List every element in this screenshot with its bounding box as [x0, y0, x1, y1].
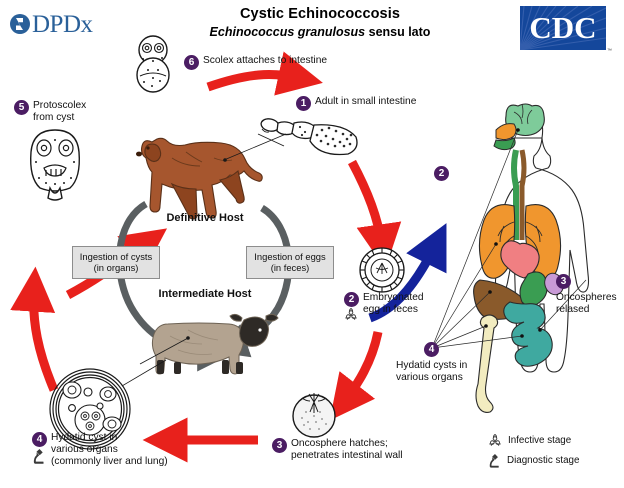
oncosphere-illustration: [288, 388, 340, 440]
page-subtitle: Echinococcus granulosus sensu lato: [190, 24, 450, 40]
step-1-badge: 1: [296, 96, 311, 111]
definitive-host-dog-illustration: [128, 118, 288, 218]
step-5-label-line1: Protoscolex: [33, 100, 86, 111]
ingestion-eggs-line1: Ingestion of eggs: [252, 251, 328, 262]
step-5-callout: 5 Protoscolex from cyst: [14, 100, 134, 124]
step-4-left-label: Hydatid cyst in various organs (commonly…: [51, 432, 168, 467]
step-6-label: Scolex attaches to intestine: [203, 55, 327, 67]
cdc-logo-text: CDC: [520, 6, 606, 50]
step-4-right-callout: 4: [424, 342, 444, 357]
cdc-trademark: ™: [607, 48, 612, 54]
ingestion-cysts-line1: Ingestion of cysts: [78, 251, 154, 262]
ingestion-of-cysts-box: Ingestion of cysts (in organs): [72, 246, 160, 279]
arrow-egg-to-oncosphere: [344, 332, 378, 402]
ingestion-eggs-line2: (in feces): [252, 262, 328, 273]
biohazard-icon: [344, 307, 358, 321]
step-4-left-callout: 4 Hydatid cyst in various organs (common…: [32, 432, 212, 467]
step-3-released-badge: 3: [556, 274, 571, 289]
step-4-left-line2: various organs: [51, 444, 118, 455]
ingestion-cysts-line2: (in organs): [78, 262, 154, 273]
step-2-egg-badge: 2: [344, 292, 359, 307]
species-qualifier: sensu lato: [365, 25, 430, 39]
dpdx-logo-text: DPDx: [32, 12, 93, 37]
step-2-egg-label: Embryonated egg in feces: [363, 292, 424, 316]
legend-label-diagnostic: Diagnostic stage: [507, 455, 579, 466]
microscope-icon: [32, 448, 46, 464]
step-5-label: Protoscolex from cyst: [33, 100, 86, 124]
microscope-icon: [488, 453, 501, 468]
intermediate-host-sheep-illustration: [148, 298, 288, 378]
step-3-released-label: Oncospheres relased: [556, 292, 624, 316]
step-5-badge: 5: [14, 100, 29, 115]
step-1-label: Adult in small intestine: [315, 96, 416, 108]
trachea-organ: [522, 150, 524, 240]
nasal-cavity-organ: [496, 124, 516, 140]
step-3-released-callout: 3: [556, 274, 624, 289]
step-3-released-line1: Oncospheres: [556, 292, 617, 303]
step-4-right-line1: Hydatid cysts in: [396, 360, 467, 371]
step-3-oncosphere-callout: 3 Oncosphere hatches; penetrates intesti…: [272, 438, 432, 462]
title-block: Cystic Echinococcosis Echinococcus granu…: [190, 5, 450, 40]
embryonated-egg-illustration: [356, 244, 408, 296]
step-1-callout: 1 Adult in small intestine: [296, 96, 446, 111]
cdc-logo: CDC: [520, 6, 606, 50]
dpdx-mark-icon: [10, 14, 30, 34]
step-5-label-line2: from cyst: [33, 112, 74, 123]
definitive-host-caption: Definitive Host: [150, 212, 260, 224]
step-4-right-badge: 4: [424, 342, 439, 357]
legend-item-infective: Infective stage: [488, 433, 608, 447]
species-name: Echinococcus granulosus: [210, 25, 366, 39]
protoscolex-illustration: [26, 126, 84, 202]
life-cycle-diagram: DPDx Cystic Echinococcosis Echinococcus …: [0, 0, 624, 488]
legend: Infective stage Diagnostic stage: [488, 433, 608, 474]
step-4-right-line2: various organs: [396, 372, 463, 383]
legend-item-diagnostic: Diagnostic stage: [488, 453, 608, 468]
step-3-badge: 3: [272, 438, 287, 453]
step-6-callout: 6 Scolex attaches to intestine: [184, 55, 344, 70]
step-2-egg-line2: egg in feces: [363, 304, 418, 315]
step-4-left-line3: (commonly liver and lung): [51, 456, 168, 467]
arrow-scolex-to-adult: [208, 75, 300, 87]
scolex-illustration: [130, 32, 176, 94]
step-4-left-badge: 4: [32, 432, 47, 447]
step-3-released-line2: relased: [556, 304, 589, 315]
step-4-right-label: Hydatid cysts in various organs: [396, 360, 490, 384]
step-2-egg-line1: Embryonated: [363, 292, 424, 303]
page-title: Cystic Echinococcosis: [190, 5, 450, 23]
dpdx-logo: DPDx: [10, 10, 130, 38]
step-4-left-line1: Hydatid cyst in: [51, 432, 117, 443]
ingestion-of-eggs-box: Ingestion of eggs (in feces): [246, 246, 334, 279]
step-6-badge: 6: [184, 55, 199, 70]
legend-label-infective: Infective stage: [508, 435, 571, 446]
step-3-line1: Oncosphere hatches;: [291, 438, 388, 449]
biohazard-icon: [488, 433, 502, 447]
step-3-line2: penetrates intestinal wall: [291, 450, 403, 461]
step-3-label: Oncosphere hatches; penetrates intestina…: [291, 438, 403, 462]
arrow-adult-to-egg: [352, 162, 382, 246]
